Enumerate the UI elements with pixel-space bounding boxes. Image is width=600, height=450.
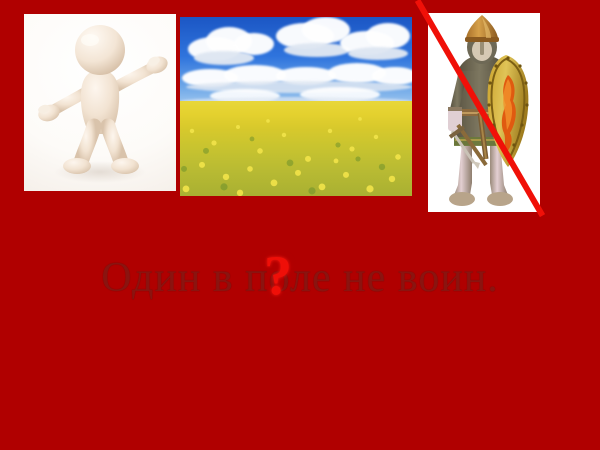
question-mark-overlay: ? (258, 248, 298, 304)
slide-canvas: Один в поле не воин. ? (0, 0, 600, 450)
warrior-icon (428, 13, 540, 212)
3d-person-icon (24, 14, 176, 191)
image-3d-person-open-arms (24, 14, 176, 191)
field-texture (180, 101, 412, 196)
image-medieval-warrior (428, 13, 540, 212)
image-rapeseed-field (180, 17, 412, 196)
caption-text: Один в поле не воин. (0, 252, 600, 304)
